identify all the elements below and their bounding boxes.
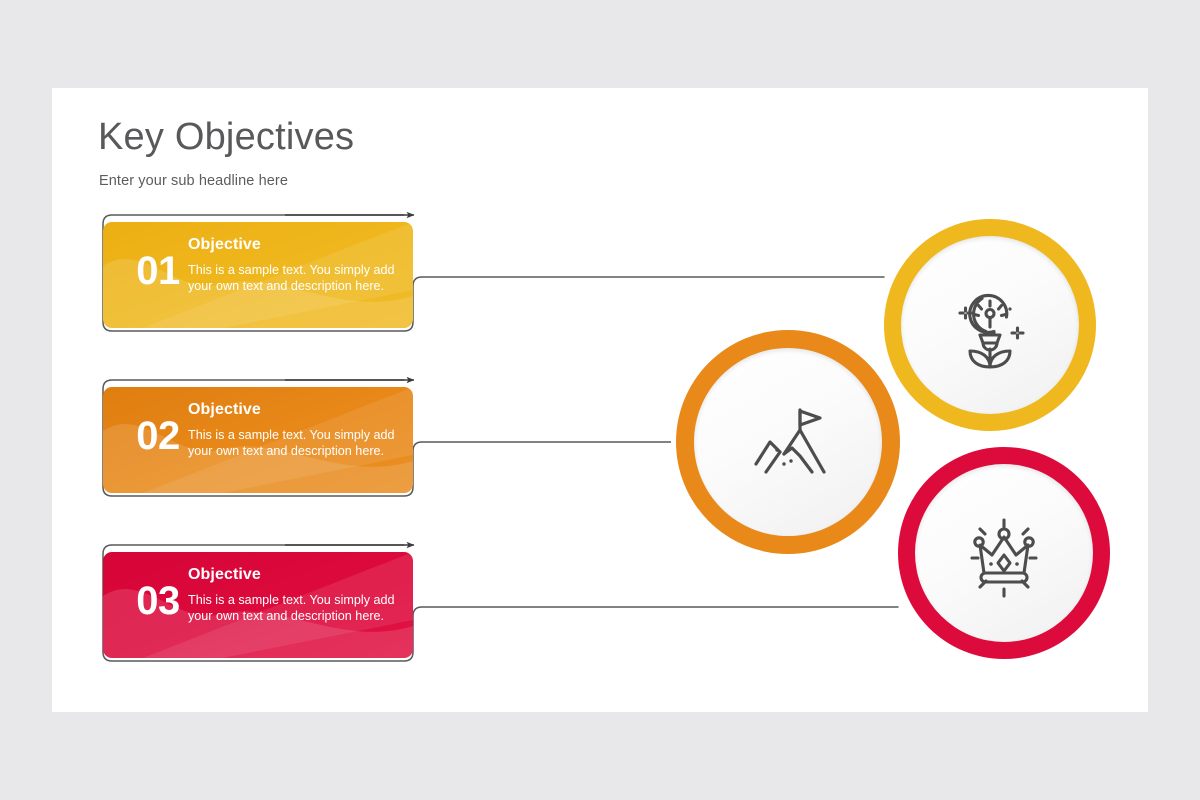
crown-icon xyxy=(898,447,1110,659)
objective-circle-01[interactable] xyxy=(884,219,1096,431)
objective-body: This is a sample text. You simply add yo… xyxy=(188,592,400,624)
objective-body: This is a sample text. You simply add yo… xyxy=(188,427,400,459)
objective-circle-03[interactable] xyxy=(898,447,1110,659)
objective-circle-02[interactable] xyxy=(676,330,900,554)
objective-heading: Objective xyxy=(188,566,261,584)
objective-heading: Objective xyxy=(188,401,261,419)
objective-card-01[interactable]: 01 Objective This is a sample text. You … xyxy=(103,222,413,328)
lightbulb-plant-icon xyxy=(884,219,1096,431)
mountain-flag-icon xyxy=(676,330,900,554)
objective-number: 01 xyxy=(119,251,197,291)
objective-card-03[interactable]: 03 Objective This is a sample text. You … xyxy=(103,552,413,658)
page-title: Key Objectives xyxy=(98,116,354,159)
objective-card-02[interactable]: 02 Objective This is a sample text. You … xyxy=(103,387,413,493)
objective-body: This is a sample text. You simply add yo… xyxy=(188,262,400,294)
objective-heading: Objective xyxy=(188,236,261,254)
slide-canvas: Key Objectives Enter your sub headline h… xyxy=(0,0,1200,800)
page-subtitle: Enter your sub headline here xyxy=(99,173,288,189)
objective-number: 02 xyxy=(119,416,197,456)
objective-number: 03 xyxy=(119,581,197,621)
